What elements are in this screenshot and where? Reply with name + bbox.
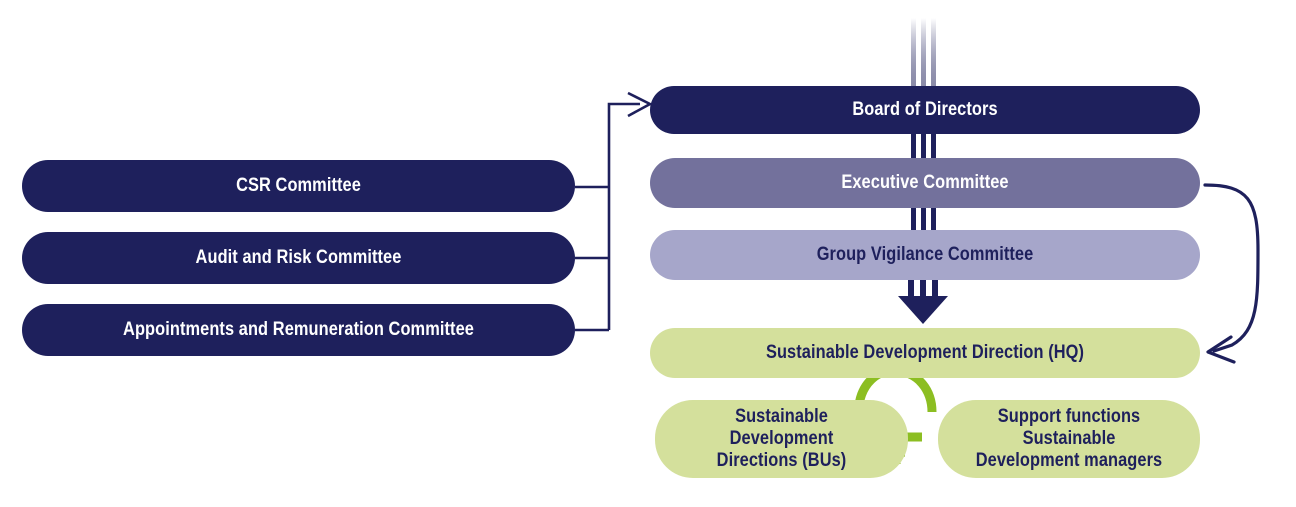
committee-bracket-connector <box>575 104 640 330</box>
executive-to-sd-hq-arrowhead <box>1208 337 1234 362</box>
committee-bracket-arrowhead <box>628 93 650 116</box>
committee-label-appointments-and-remuneration-committee: Appointments and Remuneration Committee <box>75 319 523 341</box>
hierarchy-label-sustainable-development-direction-hq: Sustainable Development Direction (HQ) <box>702 342 1147 364</box>
org-chart-diagram: CSR Committee Audit and Risk Committee A… <box>0 0 1296 507</box>
vigilance-to-sd-hq-triple-arrow-down-icon <box>898 280 948 324</box>
operational-label-sustainable-development-directions-bus: Sustainable Development Directions (BUs) <box>684 406 880 471</box>
hierarchy-label-group-vigilance-committee: Group Vigilance Committee <box>702 244 1147 266</box>
committee-label-csr-committee: CSR Committee <box>75 175 523 197</box>
committee-pill-csr-committee[interactable]: CSR Committee <box>22 160 575 212</box>
hierarchy-pill-sustainable-development-direction-hq[interactable]: Sustainable Development Direction (HQ) <box>650 328 1200 378</box>
committee-pill-audit-and-risk-committee[interactable]: Audit and Risk Committee <box>22 232 575 284</box>
operational-label-support-functions-sustainable-development-managers: Support functions Sustainable Developmen… <box>967 406 1170 471</box>
executive-to-sd-hq-curved-arrow <box>1205 185 1258 351</box>
executive-to-vigilance-triple-bar <box>911 207 936 232</box>
operational-pill-sustainable-development-directions-bus[interactable]: Sustainable Development Directions (BUs) <box>655 400 908 478</box>
operational-pill-support-functions-sustainable-development-managers[interactable]: Support functions Sustainable Developmen… <box>938 400 1200 478</box>
committee-label-audit-and-risk-committee: Audit and Risk Committee <box>75 247 523 269</box>
board-to-executive-triple-bar <box>911 134 936 159</box>
hierarchy-pill-group-vigilance-committee[interactable]: Group Vigilance Committee <box>650 230 1200 280</box>
hierarchy-label-executive-committee: Executive Committee <box>702 172 1147 194</box>
hierarchy-pill-executive-committee[interactable]: Executive Committee <box>650 158 1200 208</box>
hierarchy-pill-board-of-directors[interactable]: Board of Directors <box>650 86 1200 134</box>
committee-pill-appointments-and-remuneration-committee[interactable]: Appointments and Remuneration Committee <box>22 304 575 356</box>
hierarchy-label-board-of-directors: Board of Directors <box>702 99 1147 121</box>
top-inflow-triple-bar-fade <box>911 18 936 88</box>
